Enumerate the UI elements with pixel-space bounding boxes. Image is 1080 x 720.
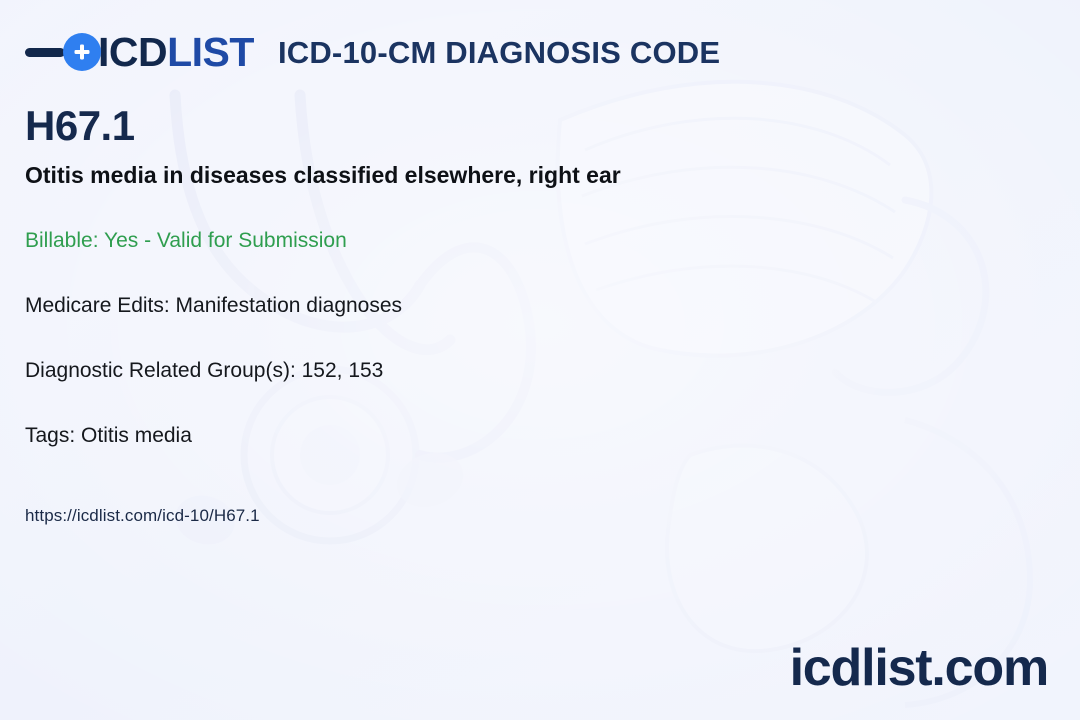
plus-icon — [63, 33, 101, 71]
logo-word-list: LIST — [167, 29, 254, 75]
page-title: ICD-10-CM DIAGNOSIS CODE — [278, 37, 720, 68]
logo-wordmark: ICDLIST — [98, 32, 254, 73]
logo-dash-icon — [25, 48, 65, 57]
source-url-link[interactable]: https://icdlist.com/icd-10/H67.1 — [25, 506, 260, 526]
icdlist-logo[interactable]: ICDLIST — [25, 26, 254, 78]
page-header: ICDLIST ICD-10-CM DIAGNOSIS CODE — [25, 26, 1055, 78]
tags: Tags: Otitis media — [25, 423, 1055, 448]
logo-word-icd: ICD — [98, 29, 167, 75]
code-details: H67.1 Otitis media in diseases classifie… — [25, 104, 1055, 448]
brand-footer: icdlist.com — [790, 642, 1048, 694]
diagnostic-related-groups: Diagnostic Related Group(s): 152, 153 — [25, 358, 1055, 383]
diagnosis-description: Otitis media in diseases classified else… — [25, 162, 1055, 190]
diagnosis-code: H67.1 — [25, 104, 1055, 148]
icd-code-card: ICDLIST ICD-10-CM DIAGNOSIS CODE H67.1 O… — [0, 0, 1080, 720]
billable-status: Billable: Yes - Valid for Submission — [25, 228, 1055, 253]
medicare-edits: Medicare Edits: Manifestation diagnoses — [25, 293, 1055, 318]
